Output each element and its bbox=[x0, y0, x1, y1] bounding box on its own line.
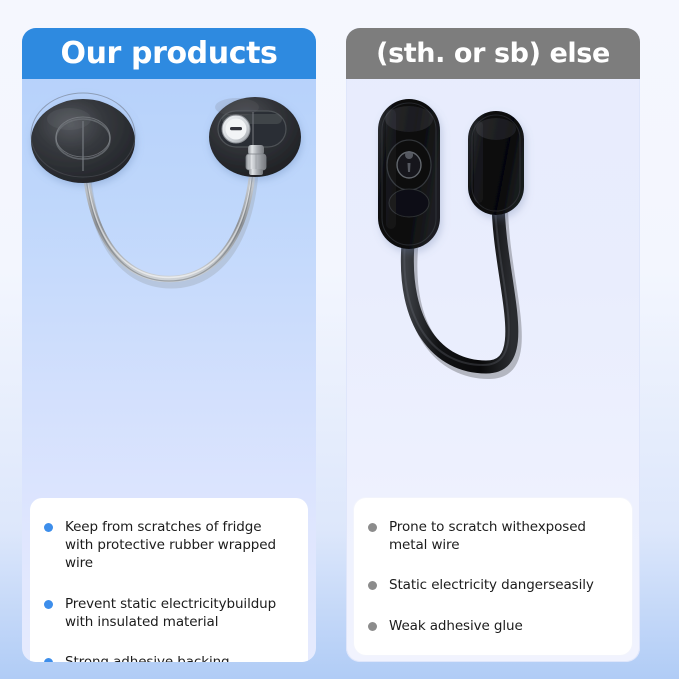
bullet-dot-icon bbox=[44, 523, 53, 532]
header-our-products-label: Our products bbox=[61, 39, 278, 69]
competitor-anchor-pad bbox=[468, 111, 524, 215]
bullet-dot-icon bbox=[368, 523, 377, 532]
drawbacks-card-competitor: Prone to scratch withexposed metal wire … bbox=[354, 498, 632, 655]
product-image-our-products bbox=[22, 79, 316, 519]
list-item: Keep from scratches of fridge with prote… bbox=[44, 518, 292, 573]
benefits-card-our-products: Keep from scratches of fridge with prote… bbox=[30, 498, 308, 662]
list-item: Prevent static electricitybuildup with i… bbox=[44, 595, 292, 631]
bullet-dot-icon bbox=[368, 622, 377, 631]
header-competitor-label: (sth. or sb) else bbox=[376, 40, 610, 67]
bullet-dot-icon bbox=[368, 581, 377, 590]
right-lock-pad bbox=[209, 97, 301, 177]
list-item: Static electricity dangerseasily bbox=[368, 576, 616, 594]
list-item: Strong adhesive backing bbox=[44, 653, 292, 662]
drawback-text: Prone to scratch withexposed metal wire bbox=[389, 518, 616, 554]
bullet-dot-icon bbox=[44, 658, 53, 662]
bullet-dot-icon bbox=[44, 600, 53, 609]
drawback-text: Static electricity dangerseasily bbox=[389, 576, 594, 594]
benefit-text: Strong adhesive backing bbox=[65, 653, 230, 662]
list-item: Prone to scratch withexposed metal wire bbox=[368, 518, 616, 554]
panel-our-products: Our products bbox=[22, 28, 316, 662]
benefit-text: Keep from scratches of fridge with prote… bbox=[65, 518, 292, 573]
product-illustration-rubber-wrapped-lock bbox=[22, 79, 316, 519]
left-adhesive-pad bbox=[31, 93, 135, 183]
product-image-competitor bbox=[346, 79, 640, 519]
benefit-text: Prevent static electricitybuildup with i… bbox=[65, 595, 292, 631]
header-our-products: Our products bbox=[22, 28, 316, 79]
panel-competitor: (sth. or sb) else bbox=[346, 28, 640, 662]
header-competitor: (sth. or sb) else bbox=[346, 28, 640, 79]
drawback-text: Weak adhesive glue bbox=[389, 617, 523, 635]
competitor-lock-pad bbox=[378, 99, 440, 249]
product-illustration-bare-cable-lock bbox=[346, 79, 640, 519]
comparison-stage: Our products bbox=[0, 0, 679, 679]
list-item: Weak adhesive glue bbox=[368, 617, 616, 635]
